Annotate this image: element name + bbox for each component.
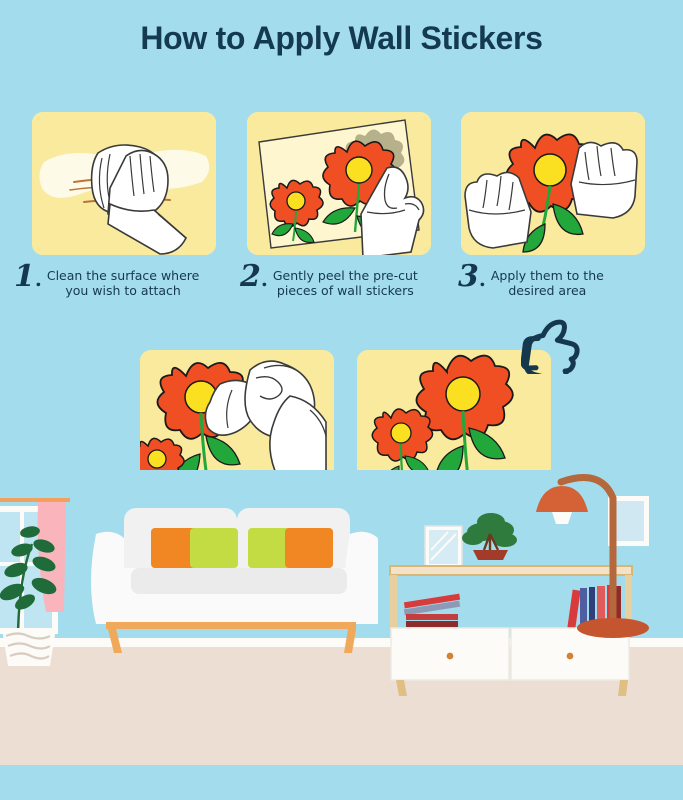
infographic-root: How to Apply Wall Stickers — [0, 0, 683, 800]
room-scene — [0, 470, 683, 800]
step-3-caption: 3. Apply them to the desired area — [458, 262, 668, 298]
step-2-text-line2: pieces of wall stickers — [273, 283, 418, 298]
step-3-number-value: 3 — [458, 259, 479, 294]
picture-frame-on-sideboard — [425, 526, 462, 568]
step-3-text-line1: Apply them to the — [491, 268, 604, 283]
step-1-number-value: 1 — [14, 259, 35, 294]
green-cushion — [190, 528, 238, 568]
step-2-text: Gently peel the pre-cut pieces of wall s… — [273, 262, 418, 298]
step-1-illustration — [32, 112, 216, 255]
thumbs-up-icon — [521, 316, 583, 374]
step-1-number-separator: . — [35, 267, 42, 291]
step-3-number-separator: . — [479, 267, 486, 291]
step-1-text-line1: Clean the surface where — [47, 268, 200, 283]
step-3-illustration — [461, 112, 645, 255]
step-2-number-value: 2 — [240, 259, 261, 294]
step-3-text-line2: desired area — [491, 283, 604, 298]
step-1-number: 1. — [14, 262, 42, 294]
step-1-text: Clean the surface where you wish to atta… — [47, 262, 200, 298]
step-3-text: Apply them to the desired area — [491, 262, 604, 298]
step-1-caption: 1. Clean the surface where you wish to a… — [14, 262, 230, 298]
step-3-number: 3. — [458, 262, 486, 294]
step-2-number: 2. — [240, 262, 268, 294]
step-2-caption: 2. Gently peel the pre-cut pieces of wal… — [240, 262, 456, 298]
step-2-number-separator: . — [261, 267, 268, 291]
orange-cushion — [285, 528, 333, 568]
page-title: How to Apply Wall Stickers — [0, 20, 683, 57]
step-2-illustration — [247, 112, 431, 255]
step-1-text-line2: you wish to attach — [47, 283, 200, 298]
step-2-text-line1: Gently peel the pre-cut — [273, 268, 418, 283]
